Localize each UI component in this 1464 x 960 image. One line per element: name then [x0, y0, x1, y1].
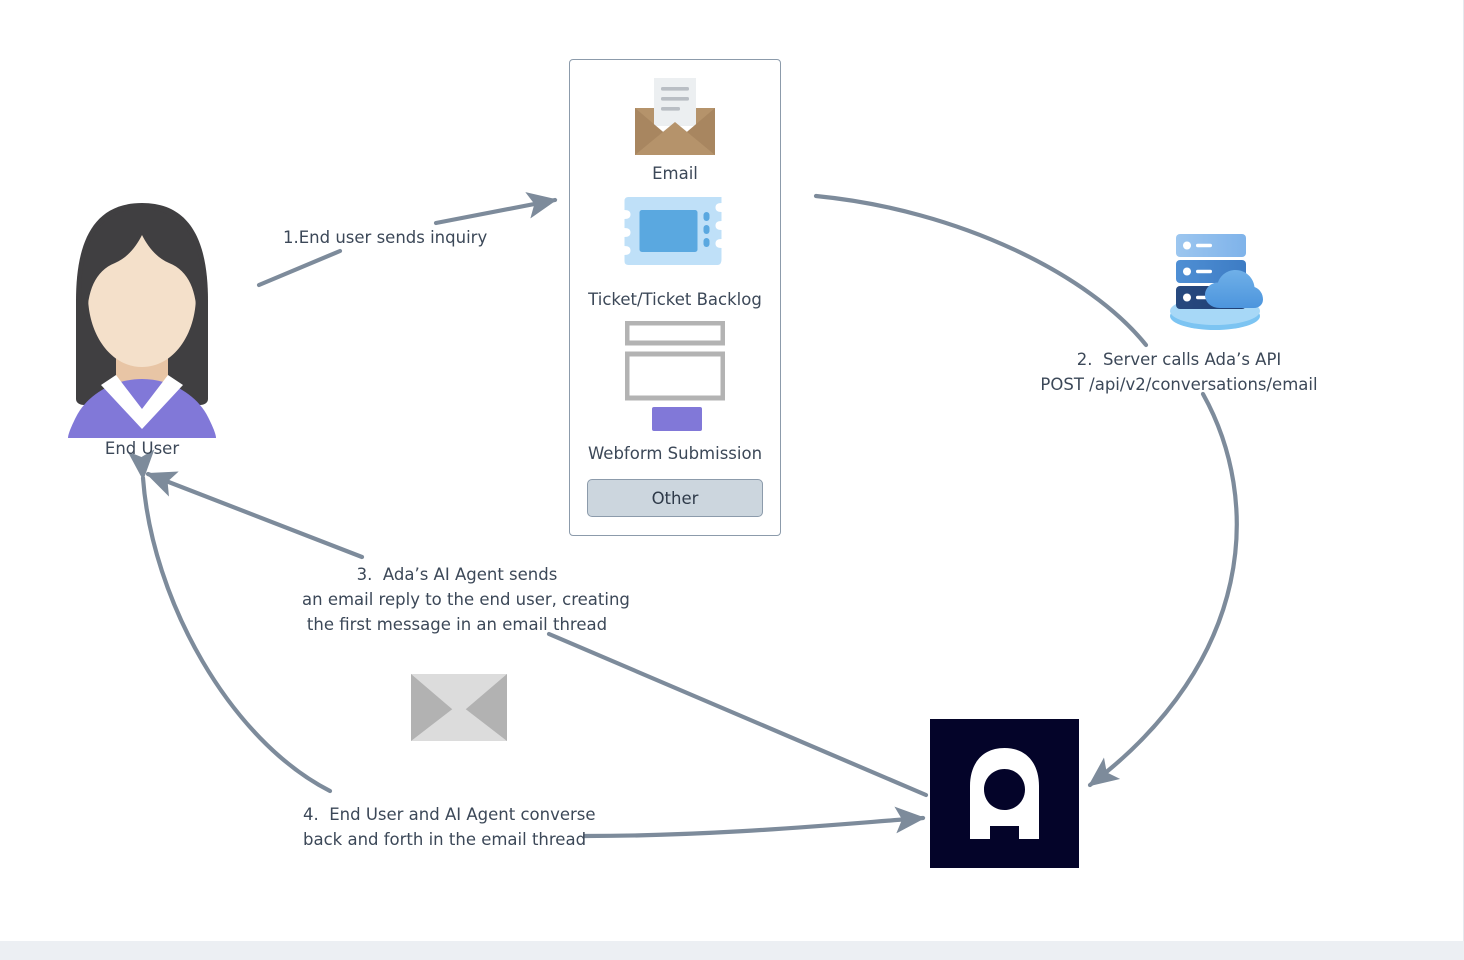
- server-cloud-icon: [1162, 228, 1268, 333]
- bottom-band: [0, 941, 1464, 960]
- step-1-label: 1.End user sends inquiry: [283, 225, 487, 250]
- step-3-label: 3. Ada’s AI Agent sends an email reply t…: [302, 562, 612, 637]
- step-2-label: 2. Server calls Ada’s API POST /api/v2/c…: [1036, 347, 1322, 397]
- webform-channel-label: Webform Submission: [570, 444, 780, 463]
- ticket-icon: [625, 197, 726, 265]
- arrow-step3-ada-to-text: [549, 634, 926, 795]
- ticket-channel-label: Ticket/Ticket Backlog: [570, 290, 780, 309]
- email-channel-label: Email: [570, 164, 780, 183]
- step-4-label: 4. End User and AI Agent converse back a…: [303, 802, 596, 852]
- arrow-step4-text-to-ada: [585, 818, 923, 836]
- ada-logo-icon: [930, 719, 1079, 868]
- arrow-step1-segment-b: [436, 200, 555, 223]
- user-avatar-icon: [43, 203, 241, 438]
- channels-box: Email Ticket/Ticket Backlog Webform Subm…: [569, 59, 781, 536]
- arrow-step3-text-to-user: [148, 474, 362, 557]
- arrow-step2-server-to-ada: [1090, 394, 1237, 785]
- arrow-step2-box-to-server: [816, 196, 1146, 345]
- end-user-actor: End User: [43, 203, 241, 461]
- arrow-step1-segment-a: [259, 251, 340, 285]
- end-user-label: End User: [43, 439, 241, 458]
- webform-icon: [625, 321, 725, 433]
- diagram-canvas: End User Email Ticket/Ticket Backlog: [0, 0, 1464, 960]
- envelope-icon: [411, 674, 507, 741]
- email-envelope-icon: [632, 78, 718, 158]
- other-channel-button[interactable]: Other: [587, 479, 763, 517]
